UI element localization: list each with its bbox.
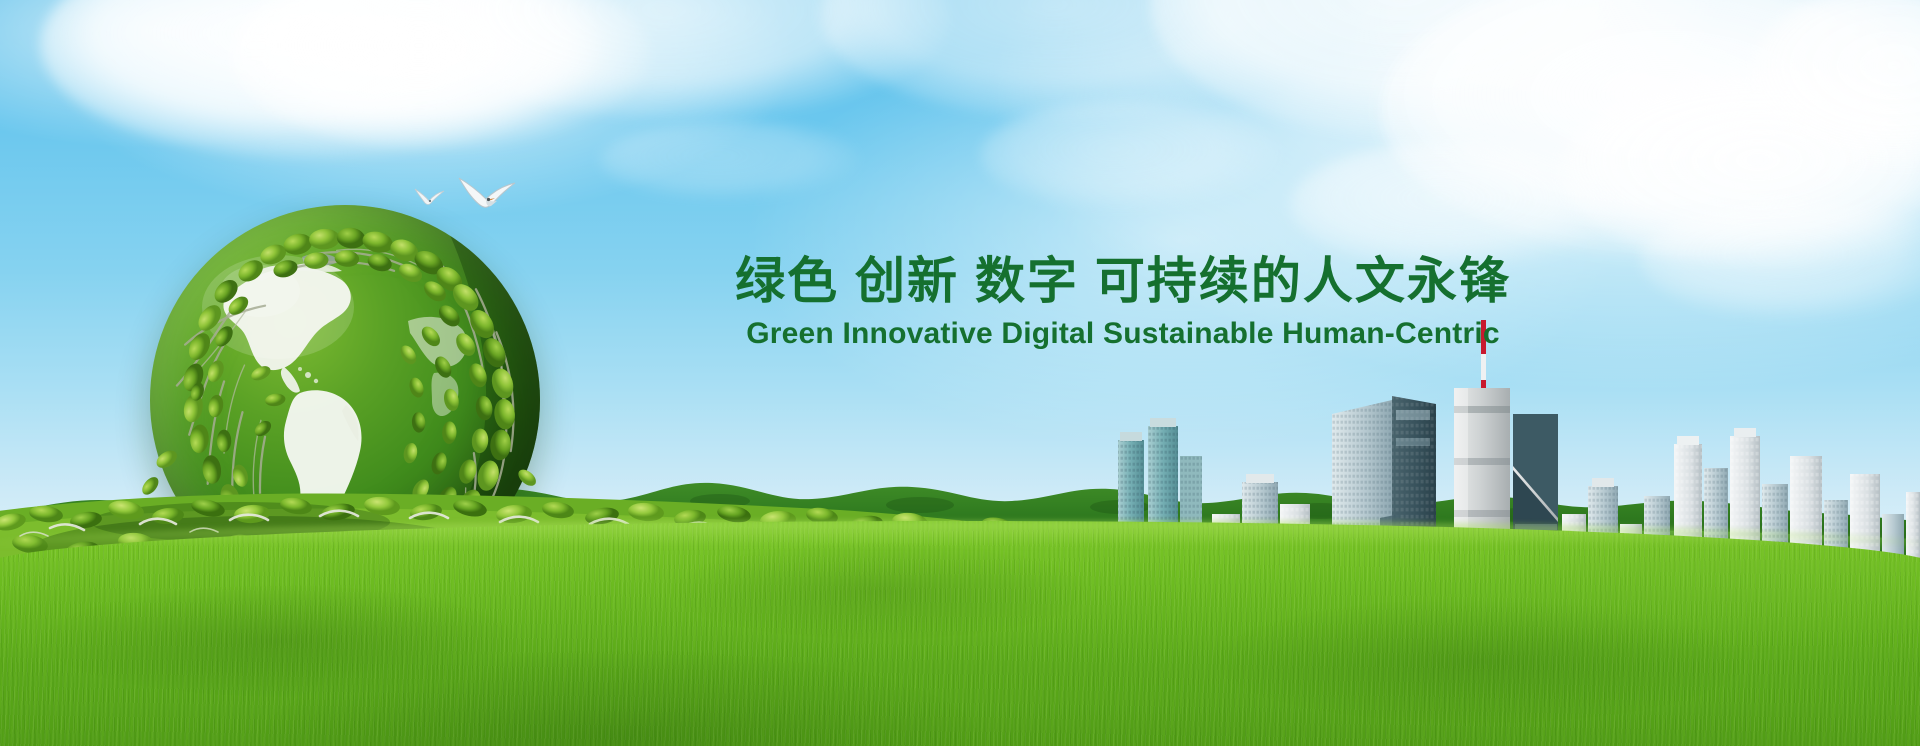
cloud-shape bbox=[980, 100, 1280, 210]
headline-chinese: 绿色 创新 数字 可持续的人文永锋 bbox=[683, 252, 1563, 311]
cloud-shape bbox=[600, 120, 860, 200]
grass-field bbox=[0, 521, 1920, 746]
headline-block: 绿色 创新 数字 可持续的人文永锋 Green Innovative Digit… bbox=[683, 252, 1563, 351]
eco-hero-banner: 绿色 创新 数字 可持续的人文永锋 Green Innovative Digit… bbox=[0, 0, 1920, 746]
grass-shading bbox=[0, 521, 1920, 746]
headline-english: Green Innovative Digital Sustainable Hum… bbox=[683, 317, 1563, 351]
cloud-shape bbox=[1290, 140, 1620, 270]
